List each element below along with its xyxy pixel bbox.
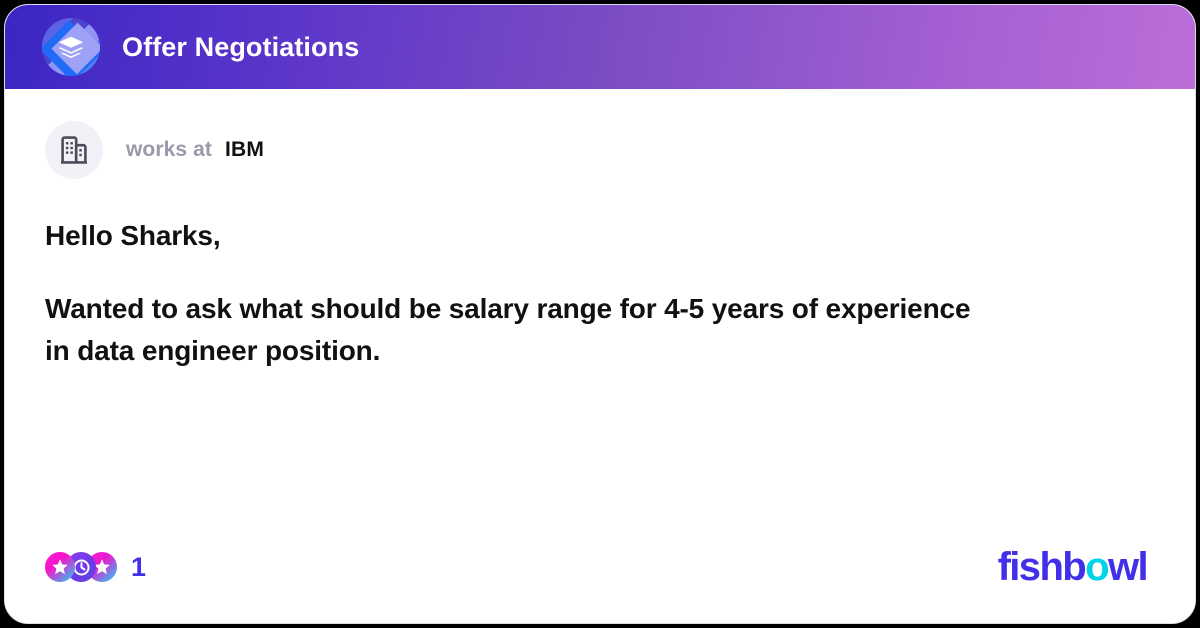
reaction-count: 1	[131, 552, 146, 583]
brand-text-part-2: wl	[1108, 545, 1147, 590]
bowl-avatar[interactable]	[42, 18, 100, 76]
office-building-icon	[57, 133, 91, 167]
works-at-label: works at	[126, 138, 212, 162]
reaction-badge-stack[interactable]	[45, 552, 117, 582]
reactions-group[interactable]: 1	[45, 552, 146, 583]
fishbowl-logo: fishbowl	[998, 545, 1147, 590]
avatar	[45, 121, 103, 179]
card-body: works at IBM Hello Sharks, Wanted to ask…	[5, 89, 1195, 623]
author-row: works at IBM	[45, 121, 1155, 179]
card-footer: 1 fishbowl	[45, 543, 1155, 591]
card-header: Offer Negotiations	[5, 5, 1195, 89]
post-paragraph-2: Wanted to ask what should be salary rang…	[45, 288, 975, 373]
post-card: Offer Negotiations	[4, 4, 1196, 624]
page-title: Offer Negotiations	[122, 32, 359, 63]
star-reaction-icon[interactable]	[45, 552, 75, 582]
company-name[interactable]: IBM	[225, 138, 264, 162]
layers-stack-icon	[42, 18, 100, 76]
author-meta: works at IBM	[126, 138, 264, 162]
brand-text-part-1: fishb	[998, 545, 1086, 590]
brand-letter-o: o	[1085, 545, 1108, 590]
post-body: Hello Sharks, Wanted to ask what should …	[45, 215, 975, 373]
post-paragraph-1: Hello Sharks,	[45, 215, 975, 258]
